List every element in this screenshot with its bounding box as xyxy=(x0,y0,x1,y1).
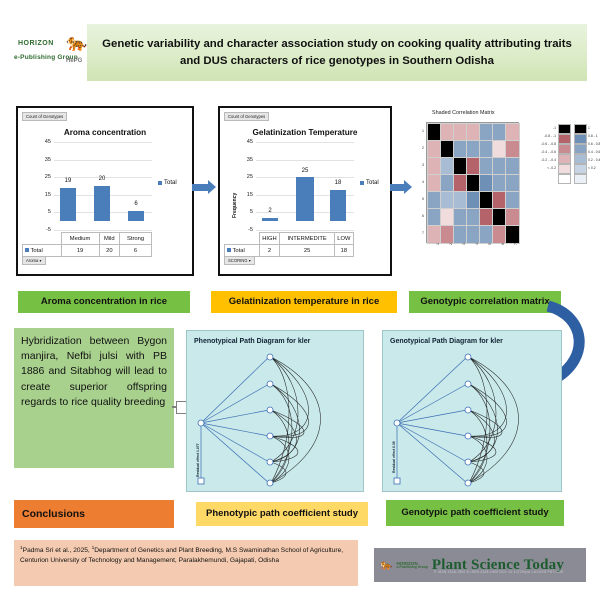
genotypic-residual-effect-label: Residual effect 0.36 xyxy=(392,441,396,473)
legend-swatch xyxy=(574,174,587,184)
matrix-row-label: 7 xyxy=(406,231,424,235)
journal-logo-line2: e-Publishing Group xyxy=(396,566,427,570)
publisher-logo-mark: HePG xyxy=(66,58,82,64)
gelatinization-legend: Total xyxy=(360,180,379,186)
matrix-row-label: 6 xyxy=(406,214,424,218)
matrix-col-label: 6 xyxy=(501,243,505,245)
footer-affiliation: 1Padma Sri et al., 2025, 1Department of … xyxy=(14,540,358,586)
genotypic-path-diagram-panel: Genotypical Path Diagram for kler xyxy=(382,330,562,492)
gridline xyxy=(54,230,152,231)
table-row: Total 19 20 6 xyxy=(23,245,152,257)
arrow-aroma-to-gelatinization xyxy=(192,180,216,194)
bar-value-medium: 19 xyxy=(65,178,72,184)
legend-label: < -0.2 xyxy=(528,166,556,170)
bar-mild[interactable] xyxy=(94,186,110,221)
poster-header: HORIZON e-Publishing Group 🐅 HePG Geneti… xyxy=(0,24,600,84)
gelatinization-plot-area: 45 35 25 15 5 -5 2 25 18 xyxy=(256,142,354,230)
legend-swatch xyxy=(574,124,587,134)
bar-value-strong: 6 xyxy=(134,201,137,207)
arrow-stem xyxy=(390,184,404,191)
table-cell: 6 xyxy=(120,245,152,257)
conclusion-text-box: Hybridization between Bygon manjira, Nef… xyxy=(14,328,174,468)
y-tick: 45 xyxy=(247,139,253,145)
legend-swatch xyxy=(574,164,587,174)
aroma-plot-area: 45 35 25 15 5 -5 19 20 6 xyxy=(54,142,152,230)
table-row: HIGH INTERMEDITE LOW xyxy=(225,233,354,245)
matrix-cell[interactable] xyxy=(505,225,520,244)
legend-swatch xyxy=(574,154,587,164)
y-tick: 15 xyxy=(247,192,253,198)
journal-publisher-logo: HORIZON e-Publishing Group xyxy=(396,561,427,570)
y-tick: 45 xyxy=(45,139,51,145)
gridline xyxy=(54,160,152,161)
legend-swatch xyxy=(25,248,29,252)
legend-label: -0.4 - -0.6 xyxy=(528,150,556,154)
legend-label: -0.8 - -1 xyxy=(528,134,556,138)
matrix-col-label: 4 xyxy=(475,243,479,245)
arrow-stem xyxy=(192,184,208,191)
table-cell: 19 xyxy=(61,245,99,257)
aroma-data-table: Medium Mild Strong Total 19 20 6 xyxy=(22,232,152,257)
table-header-strong: Strong xyxy=(120,233,152,245)
legend-label: 0.6 - 0.8 xyxy=(588,142,600,146)
gelatinization-field-button[interactable]: Count of Genotypes xyxy=(224,112,269,121)
legend-label: Total xyxy=(164,180,177,186)
matrix-row-label: 4 xyxy=(406,180,424,184)
table-header-high: HIGH xyxy=(259,233,280,245)
legend-swatch xyxy=(558,134,571,144)
legend-label: 0.8 - 1 xyxy=(588,134,598,138)
legend-label: < 0.2 xyxy=(588,166,596,170)
aroma-legend: Total xyxy=(158,180,177,186)
legend-label: -0.6 - -0.8 xyxy=(528,142,556,146)
bar-medium[interactable] xyxy=(60,188,76,221)
arrow-head xyxy=(208,180,216,194)
label-gelatinization-temperature: Gelatinization temperature in rice xyxy=(211,291,397,313)
legend-label: 0.4 - 0.6 xyxy=(588,150,600,154)
table-cell: 18 xyxy=(334,245,353,257)
legend-label: 0.2 - 0.4 xyxy=(588,158,600,162)
aroma-field-button[interactable]: Count of Genotypes xyxy=(22,112,67,121)
matrix-row-label: 2 xyxy=(406,146,424,150)
matrix-row-label: 3 xyxy=(406,163,424,167)
matrix-col-label: 3 xyxy=(462,243,466,245)
aroma-filter-button[interactable]: Aroma ▾ xyxy=(22,256,46,265)
matrix-col-label: 1 xyxy=(436,243,440,245)
y-tick: 35 xyxy=(45,157,51,163)
legend-label: -1 xyxy=(528,126,556,130)
poster-title-box: Genetic variability and character associ… xyxy=(87,24,587,81)
table-header-mild: Mild xyxy=(99,233,120,245)
aroma-filter-label: Aroma xyxy=(26,258,38,263)
y-tick: 15 xyxy=(45,192,51,198)
y-tick: 5 xyxy=(250,209,253,215)
bar-value-low: 18 xyxy=(335,180,342,186)
y-tick: 25 xyxy=(247,174,253,180)
poster-root: HORIZON e-Publishing Group 🐅 HePG Geneti… xyxy=(0,0,600,600)
chevron-down-icon: ▾ xyxy=(40,258,42,263)
gridline xyxy=(54,142,152,143)
table-header-medium: Medium xyxy=(61,233,99,245)
y-tick: 5 xyxy=(48,209,51,215)
phenotypic-path-diagram-panel: Phenotypical Path Diagram for kler xyxy=(186,330,364,492)
legend-swatch xyxy=(574,134,587,144)
gridline xyxy=(256,230,354,231)
gelatinization-chart-title: Gelatinization Temperature xyxy=(220,128,390,137)
legend-swatch xyxy=(558,164,571,174)
table-header-intermediate: INTERMEDITE xyxy=(280,233,334,245)
bar-intermediate[interactable] xyxy=(296,177,314,221)
table-row-label-text: Total xyxy=(233,248,245,254)
table-row-label: Total xyxy=(23,245,62,257)
gelatinization-filter-button[interactable]: SCORING ▾ xyxy=(224,256,255,265)
bar-strong[interactable] xyxy=(128,211,144,222)
gelatinization-data-table: HIGH INTERMEDITE LOW Total 2 25 18 xyxy=(224,232,354,257)
tag-genotypic-path-coefficient: Genotypic path coefficient study xyxy=(386,500,564,526)
journal-subtitle: P-ISSN 2348-1900 E-ISSN 2348-1900 DOI: 1… xyxy=(434,570,563,574)
table-header-low: LOW xyxy=(334,233,353,245)
legend-label: -0.2 - -0.4 xyxy=(528,158,556,162)
bar-value-intermediate: 25 xyxy=(302,168,309,174)
legend-negative-column xyxy=(558,124,569,184)
gridline xyxy=(256,142,354,143)
label-aroma-concentration: Aroma concentration in rice xyxy=(18,291,190,313)
legend-swatch xyxy=(558,154,571,164)
gelatinization-filter-label: SCORING xyxy=(228,258,248,263)
table-cell: 20 xyxy=(99,245,120,257)
table-cell: 25 xyxy=(280,245,334,257)
legend-positive-column xyxy=(574,124,585,184)
matrix-col-label: 5 xyxy=(488,243,492,245)
page-title: Genetic variability and character associ… xyxy=(87,36,587,69)
label-genotypic-correlation-matrix: Genotypic correlation matrix xyxy=(409,291,561,313)
bar-value-high: 2 xyxy=(268,208,271,214)
bar-high[interactable] xyxy=(262,218,278,222)
table-cell: 2 xyxy=(259,245,280,257)
legend-swatch xyxy=(558,174,571,184)
journal-banner: 🐅 HORIZON e-Publishing Group Plant Scien… xyxy=(374,548,586,582)
table-row-label-text: Total xyxy=(31,248,43,254)
legend-swatch xyxy=(227,248,231,252)
matrix-col-label: 2 xyxy=(449,243,453,245)
legend-label: 1 xyxy=(588,126,590,130)
footer-authors: Padma Sri et al., 2025, xyxy=(23,547,92,554)
y-tick: 35 xyxy=(247,157,253,163)
tag-conclusions: Conclusions xyxy=(14,500,174,528)
legend-swatch xyxy=(574,144,587,154)
table-corner xyxy=(23,233,62,245)
table-row: Total 2 25 18 xyxy=(225,245,354,257)
correlation-matrix-title: Shaded Correlation Matrix xyxy=(432,110,495,116)
legend-swatch xyxy=(558,144,571,154)
tag-phenotypic-path-coefficient: Phenotypic path coefficient study xyxy=(196,502,368,526)
publisher-logo-line1: HORIZON xyxy=(18,40,54,47)
phenotypic-path-diagram-svg xyxy=(187,331,363,491)
legend-swatch xyxy=(158,181,162,185)
y-tick: 25 xyxy=(45,174,51,180)
legend-swatch xyxy=(360,181,364,185)
table-row-label: Total xyxy=(225,245,260,257)
table-row: Medium Mild Strong xyxy=(23,233,152,245)
aroma-chart-title: Aroma concentration xyxy=(18,128,192,137)
aroma-chart-panel: Count of Genotypes Aroma concentration 4… xyxy=(16,106,194,276)
matrix-col-label: 7 xyxy=(514,243,518,245)
lion-icon: 🐅 xyxy=(66,34,87,51)
phenotypic-residual-effect-label: Residual effect 1.077 xyxy=(196,443,200,477)
legend-swatch xyxy=(558,124,571,134)
gelatinization-y-axis-label: Frequency xyxy=(232,193,238,218)
chevron-down-icon: ▾ xyxy=(249,258,251,263)
matrix-row-label: 5 xyxy=(406,197,424,201)
gelatinization-chart-panel: Count of Genotypes Gelatinization Temper… xyxy=(218,106,392,276)
lion-icon: 🐅 xyxy=(380,560,392,571)
bar-value-mild: 20 xyxy=(99,176,106,182)
publisher-logo: HORIZON e-Publishing Group 🐅 HePG xyxy=(14,28,86,80)
matrix-row-label: 1 xyxy=(406,129,424,133)
genotypic-path-diagram-svg xyxy=(383,331,561,491)
correlation-matrix-grid[interactable] xyxy=(426,122,519,243)
bar-low[interactable] xyxy=(330,190,346,222)
gridline xyxy=(256,160,354,161)
correlation-matrix-panel: Shaded Correlation Matrix 1234567 123456… xyxy=(404,106,596,276)
legend-label: Total xyxy=(366,180,379,186)
table-corner xyxy=(225,233,260,245)
